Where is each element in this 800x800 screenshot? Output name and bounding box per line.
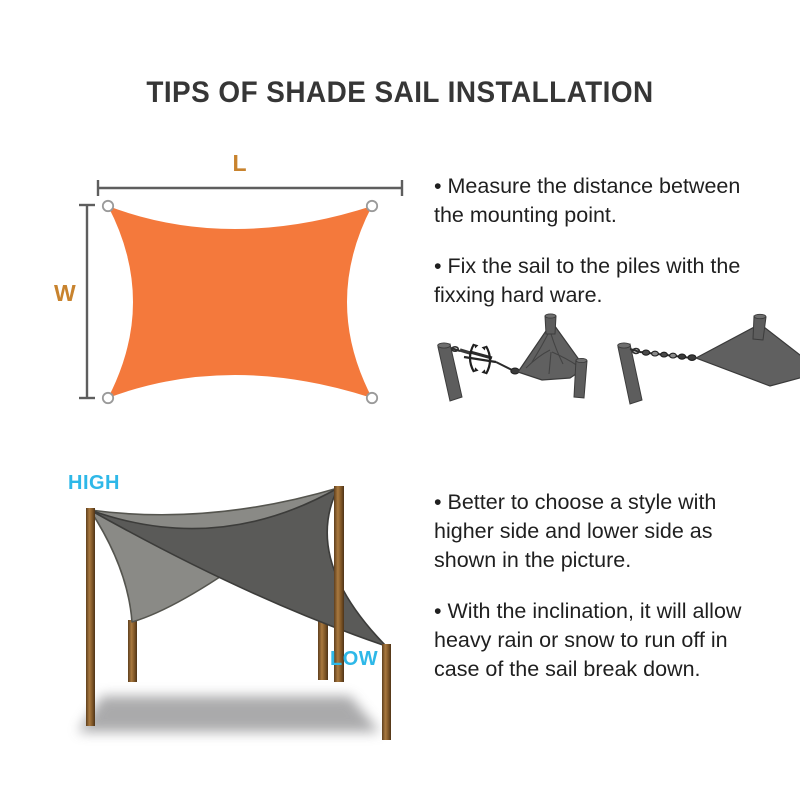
length-dimension-line [98, 180, 402, 196]
tip-style-line-1: • Better to choose a style with [434, 488, 800, 517]
tip-inclination: • With the inclination, it will allow he… [434, 597, 800, 684]
length-label: L [50, 150, 430, 177]
tip-inclination-line-2: heavy rain or snow to run off in [434, 626, 800, 655]
tips-list-bottom: • Better to choose a style with higher s… [434, 488, 800, 684]
tip-style-line-3: shown in the picture. [434, 546, 800, 575]
hardware-chain-assembly [618, 314, 800, 404]
hardware-svg [430, 300, 800, 415]
hardware-turnbuckle-assembly [438, 314, 587, 401]
tip-style-line-2: higher side and lower side as [434, 517, 800, 546]
width-dimension-line [79, 205, 95, 398]
width-label: W [54, 280, 77, 307]
hardware-support-post-left-b [574, 358, 587, 398]
infographic-page: TIPS OF SHADE SAIL INSTALLATION [0, 0, 800, 800]
hardware-cable-left [496, 362, 512, 370]
post-high-left [86, 508, 95, 726]
tip-measure-line-2: the mounting point. [434, 201, 800, 230]
tip-fix-sail-line-1: • Fix the sail to the piles with the [434, 252, 800, 281]
hardware-support-post-left-a [545, 314, 556, 334]
hardware-shackle-left [511, 368, 519, 374]
page-title: TIPS OF SHADE SAIL INSTALLATION [28, 76, 772, 110]
high-low-svg [50, 460, 430, 760]
tips-list-top: • Measure the distance between the mount… [434, 172, 800, 310]
hardware-diagram [430, 300, 800, 415]
hardware-turnbuckle [464, 344, 496, 374]
hardware-sail-right [696, 324, 800, 386]
high-label: HIGH [68, 472, 120, 495]
post-low-right [382, 644, 391, 740]
orange-sail-shape [108, 206, 372, 398]
ground-shadow [78, 696, 380, 732]
hardware-post-left [438, 343, 462, 401]
low-label: LOW [330, 648, 378, 671]
tip-measure: • Measure the distance between the mount… [434, 172, 800, 230]
hardware-chain-right [640, 350, 696, 360]
hardware-carabiner-left [451, 347, 470, 353]
tip-style: • Better to choose a style with higher s… [434, 488, 800, 575]
sail-dimensions-diagram: L W [50, 150, 430, 430]
post-back-left [128, 620, 137, 682]
high-low-diagram: HIGH LOW [50, 460, 430, 760]
tip-inclination-line-3: case of the sail break down. [434, 655, 800, 684]
sail-dimensions-svg [50, 150, 430, 430]
tip-measure-line-1: • Measure the distance between [434, 172, 800, 201]
tip-inclination-line-1: • With the inclination, it will allow [434, 597, 800, 626]
